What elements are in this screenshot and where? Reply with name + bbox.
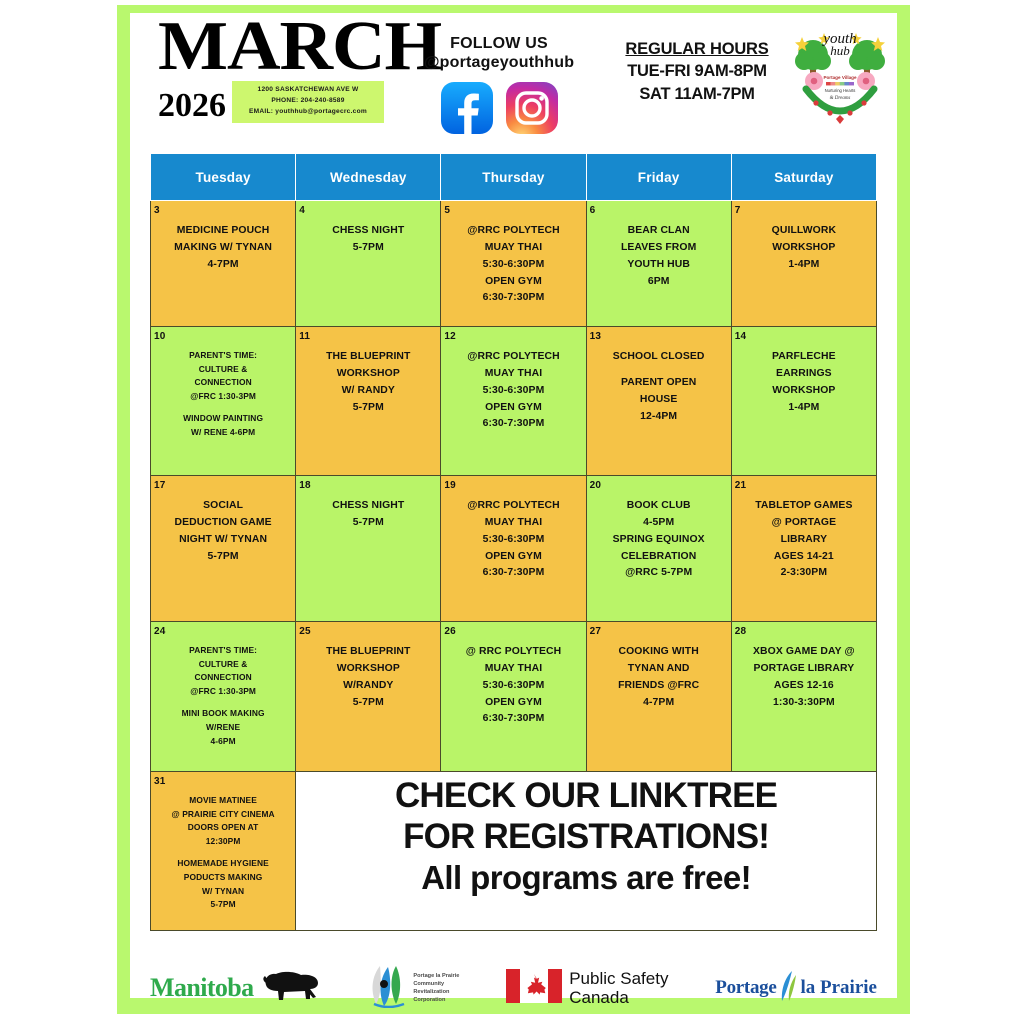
contact-phone: PHONE: 204-240-8589: [238, 96, 378, 107]
day-number: 10: [154, 331, 292, 342]
event-line: @RRC 5-7PM: [590, 565, 728, 582]
event-line: OPEN GYM: [444, 695, 582, 712]
day-event-text: THE BLUEPRINTWORKSHOPW/RANDY5-7PM: [299, 644, 437, 711]
event-line: DEDUCTION GAME: [154, 515, 292, 532]
event-line: QUILLWORK: [735, 223, 873, 240]
calendar-day-cell-24[interactable]: 24PARENT'S TIME:CULTURE &CONNECTION@FRC …: [151, 622, 296, 772]
day-event-text: BEAR CLANLEAVES FROMYOUTH HUB6PM: [590, 223, 728, 290]
event-line: HOMEMADE HYGIENE: [154, 857, 292, 871]
social-icons-row: [406, 82, 592, 134]
event-line: WORKSHOP: [735, 240, 873, 257]
event-line: @FRC 1:30-3PM: [154, 390, 292, 404]
calendar-week-row: 3MEDICINE POUCHMAKING W/ TYNAN4-7PM4CHES…: [151, 201, 877, 327]
day-number: 11: [299, 331, 437, 342]
year-and-contact-row: 2026 1200 SASKATCHEWAN AVE W PHONE: 204-…: [158, 81, 408, 123]
calendar-day-cell-11[interactable]: 11THE BLUEPRINTWORKSHOPW/ RANDY5-7PM: [296, 327, 441, 476]
calendar-table: Tuesday Wednesday Thursday Friday Saturd…: [150, 153, 877, 931]
hours-weekday: TUE-FRI 9AM-8PM: [598, 60, 796, 82]
calendar-week-row: 17SOCIALDEDUCTION GAMENIGHT W/ TYNAN5-7P…: [151, 476, 877, 622]
day-number: 19: [444, 480, 582, 491]
poster-header: MARCH 2026 1200 SASKATCHEWAN AVE W PHONE…: [130, 13, 897, 153]
calendar-day-cell-3[interactable]: 3MEDICINE POUCHMAKING W/ TYNAN4-7PM: [151, 201, 296, 327]
event-line: AGES 14-21: [735, 549, 873, 566]
public-safety-line-1: Public Safety: [569, 969, 668, 988]
poster-sheet: MARCH 2026 1200 SASKATCHEWAN AVE W PHONE…: [130, 13, 897, 998]
linktree-line-3: All programs are free!: [302, 858, 870, 898]
weekday-header-wednesday: Wednesday: [296, 154, 441, 201]
follow-us-block: FOLLOW US @portageyouthhub: [406, 35, 592, 134]
event-line: PARFLECHE: [735, 349, 873, 366]
day-cell-inner: 4CHESS NIGHT5-7PM: [296, 201, 440, 262]
event-line: CONNECTION: [154, 376, 292, 390]
calendar-day-cell-14[interactable]: 14PARFLECHEEARRINGSWORKSHOP1-4PM: [731, 327, 876, 476]
hours-saturday: SAT 11AM-7PM: [598, 83, 796, 105]
event-line: @RRC POLYTECH: [444, 498, 582, 515]
day-event-text: THE BLUEPRINTWORKSHOPW/ RANDY5-7PM: [299, 349, 437, 416]
calendar-body: 3MEDICINE POUCHMAKING W/ TYNAN4-7PM4CHES…: [151, 201, 877, 931]
event-line: CHESS NIGHT: [299, 223, 437, 240]
event-line: W/ RENE 4-6PM: [154, 426, 292, 440]
day-event-text: @RRC POLYTECHMUAY THAI5:30-6:30PMOPEN GY…: [444, 223, 582, 307]
day-event-text: BOOK CLUB4-5PMSPRING EQUINOXCELEBRATION@…: [590, 498, 728, 582]
day-event-text: SOCIALDEDUCTION GAMENIGHT W/ TYNAN5-7PM: [154, 498, 292, 565]
event-line: TYNAN AND: [590, 661, 728, 678]
day-number: 25: [299, 626, 437, 637]
event-line: PORTAGE LIBRARY: [735, 661, 873, 678]
hours-title: REGULAR HOURS: [598, 39, 796, 60]
calendar-week-row: 24PARENT'S TIME:CULTURE &CONNECTION@FRC …: [151, 622, 877, 772]
day-number: 24: [154, 626, 292, 637]
logo-manitoba: Manitoba: [150, 969, 322, 1008]
event-line: 6:30-7:30PM: [444, 565, 582, 582]
event-line: OPEN GYM: [444, 274, 582, 291]
page-title: MARCH: [158, 15, 423, 79]
day-number: 27: [590, 626, 728, 637]
event-line: 12-4PM: [590, 409, 728, 426]
event-line: 5:30-6:30PM: [444, 383, 582, 400]
poster-green-frame: MARCH 2026 1200 SASKATCHEWAN AVE W PHONE…: [117, 5, 910, 1014]
event-line: CULTURE &: [154, 363, 292, 377]
event-line: CONNECTION: [154, 671, 292, 685]
day-event-text: MEDICINE POUCHMAKING W/ TYNAN4-7PM: [154, 223, 292, 274]
linktree-line-1: CHECK OUR LINKTREE: [302, 776, 870, 817]
event-line: WORKSHOP: [299, 661, 437, 678]
day-number: 13: [590, 331, 728, 342]
event-line: 4-5PM: [590, 515, 728, 532]
day-number: 20: [590, 480, 728, 491]
event-line: DOORS OPEN AT: [154, 821, 292, 835]
day-number: 28: [735, 626, 873, 637]
calendar-day-cell-18[interactable]: 18CHESS NIGHT5-7PM: [296, 476, 441, 622]
event-line: SCHOOL CLOSED: [590, 349, 728, 366]
calendar-day-cell-20[interactable]: 20BOOK CLUB4-5PMSPRING EQUINOXCELEBRATIO…: [586, 476, 731, 622]
event-line: 5:30-6:30PM: [444, 257, 582, 274]
event-line: CHESS NIGHT: [299, 498, 437, 515]
logo-portage-crc: Portage la Prairie Community Revitalizat…: [368, 964, 459, 1013]
weekday-header-friday: Friday: [586, 154, 731, 201]
day-number: 12: [444, 331, 582, 342]
day-cell-inner: 17SOCIALDEDUCTION GAMENIGHT W/ TYNAN5-7P…: [151, 476, 295, 570]
day-cell-inner: 6BEAR CLANLEAVES FROMYOUTH HUB6PM: [587, 201, 731, 295]
day-cell-inner: 21TABLETOP GAMES@ PORTAGELIBRARYAGES 14-…: [732, 476, 876, 587]
logo-portage-la-prairie: Portage la Prairie: [715, 969, 877, 1008]
event-line: MUAY THAI: [444, 366, 582, 383]
event-line: MINI BOOK MAKING: [154, 707, 292, 721]
calendar-day-cell-26[interactable]: 26@ RRC POLYTECHMUAY THAI5:30-6:30PMOPEN…: [441, 622, 586, 772]
prairie-grass-icon: [777, 969, 799, 1008]
footer-logos: Manitoba: [150, 957, 877, 1019]
event-spacer: [590, 366, 728, 375]
public-safety-wordmark: Public Safety Canada: [569, 969, 668, 1007]
contact-email: EMAIL: youthhub@portagecrc.com: [238, 107, 378, 118]
event-line: PARENT OPEN: [590, 375, 728, 392]
crc-line-1: Portage la Prairie: [413, 972, 459, 980]
calendar-day-cell-19[interactable]: 19@RRC POLYTECHMUAY THAI5:30-6:30PMOPEN …: [441, 476, 586, 622]
event-line: MUAY THAI: [444, 515, 582, 532]
day-cell-inner: 19@RRC POLYTECHMUAY THAI5:30-6:30PMOPEN …: [441, 476, 585, 587]
event-line: W/RENE: [154, 721, 292, 735]
event-line: 6:30-7:30PM: [444, 711, 582, 728]
event-line: 6:30-7:30PM: [444, 290, 582, 307]
day-event-text: PARENT'S TIME:CULTURE &CONNECTION@FRC 1:…: [154, 644, 292, 748]
event-line: PARENT'S TIME:: [154, 349, 292, 363]
day-cell-inner: 12@RRC POLYTECHMUAY THAI5:30-6:30PMOPEN …: [441, 327, 585, 438]
event-line: W/ TYNAN: [154, 885, 292, 899]
calendar-day-cell-12[interactable]: 12@RRC POLYTECHMUAY THAI5:30-6:30PMOPEN …: [441, 327, 586, 476]
day-cell-inner: 10PARENT'S TIME:CULTURE &CONNECTION@FRC …: [151, 327, 295, 445]
day-cell-inner: 14PARFLECHEEARRINGSWORKSHOP1-4PM: [732, 327, 876, 421]
svg-text:Portage Village: Portage Village: [823, 75, 857, 80]
event-line: MAKING W/ TYNAN: [154, 240, 292, 257]
day-cell-inner: 24PARENT'S TIME:CULTURE &CONNECTION@FRC …: [151, 622, 295, 753]
event-line: PODUCTS MAKING: [154, 871, 292, 885]
event-spacer: [154, 403, 292, 412]
day-cell-inner: 18CHESS NIGHT5-7PM: [296, 476, 440, 537]
calendar-day-cell-4[interactable]: 4CHESS NIGHT5-7PM: [296, 201, 441, 327]
day-event-text: @ RRC POLYTECHMUAY THAI5:30-6:30PMOPEN G…: [444, 644, 582, 728]
linktree-line-2: FOR REGISTRATIONS!: [302, 817, 870, 858]
event-line: FRIENDS @FRC: [590, 678, 728, 695]
event-line: OPEN GYM: [444, 549, 582, 566]
public-safety-line-2: Canada: [569, 988, 668, 1007]
event-line: 6PM: [590, 274, 728, 291]
event-line: THE BLUEPRINT: [299, 349, 437, 366]
svg-text:Nurturing Hearts: Nurturing Hearts: [825, 88, 856, 93]
year-label: 2026: [158, 89, 226, 123]
day-event-text: XBOX GAME DAY @PORTAGE LIBRARYAGES 12-16…: [735, 644, 873, 711]
event-line: 6:30-7:30PM: [444, 416, 582, 433]
event-line: TABLETOP GAMES: [735, 498, 873, 515]
day-cell-inner: 3MEDICINE POUCHMAKING W/ TYNAN4-7PM: [151, 201, 295, 279]
event-line: WORKSHOP: [299, 366, 437, 383]
day-number: 3: [154, 205, 292, 216]
event-line: @RRC POLYTECH: [444, 349, 582, 366]
day-cell-inner: 7QUILLWORKWORKSHOP1-4PM: [732, 201, 876, 279]
event-line: AGES 12-16: [735, 678, 873, 695]
day-cell-inner: 11THE BLUEPRINTWORKSHOPW/ RANDY5-7PM: [296, 327, 440, 421]
weekday-header-thursday: Thursday: [441, 154, 586, 201]
event-line: 1:30-3:30PM: [735, 695, 873, 712]
event-line: @FRC 1:30-3PM: [154, 685, 292, 699]
calendar-header-row: Tuesday Wednesday Thursday Friday Saturd…: [151, 154, 877, 201]
calendar-day-cell-5[interactable]: 5@RRC POLYTECHMUAY THAI5:30-6:30PMOPEN G…: [441, 201, 586, 327]
day-event-text: @RRC POLYTECHMUAY THAI5:30-6:30PMOPEN GY…: [444, 349, 582, 433]
event-line: XBOX GAME DAY @: [735, 644, 873, 661]
event-spacer: [154, 698, 292, 707]
event-line: HOUSE: [590, 392, 728, 409]
event-line: PARENT'S TIME:: [154, 644, 292, 658]
day-event-text: CHESS NIGHT5-7PM: [299, 223, 437, 257]
event-line: 1-4PM: [735, 400, 873, 417]
day-event-text: PARENT'S TIME:CULTURE &CONNECTION@FRC 1:…: [154, 349, 292, 440]
crc-line-4: Corporation: [413, 996, 459, 1004]
crc-line-3: Revitalization: [413, 988, 459, 996]
event-line: WINDOW PAINTING: [154, 412, 292, 426]
calendar-day-cell-27[interactable]: 27COOKING WITHTYNAN ANDFRIENDS @FRC4-7PM: [586, 622, 731, 772]
event-line: W/ RANDY: [299, 383, 437, 400]
event-line: CELEBRATION: [590, 549, 728, 566]
event-line: 1-4PM: [735, 257, 873, 274]
event-spacer: [154, 848, 292, 857]
day-number: 21: [735, 480, 873, 491]
event-line: 4-7PM: [590, 695, 728, 712]
event-line: OPEN GYM: [444, 400, 582, 417]
weekday-header-saturday: Saturday: [731, 154, 876, 201]
crc-swoosh-icon: [368, 964, 410, 1013]
day-event-text: PARFLECHEEARRINGSWORKSHOP1-4PM: [735, 349, 873, 416]
event-line: MEDICINE POUCH: [154, 223, 292, 240]
facebook-icon[interactable]: [441, 82, 493, 134]
event-line: MUAY THAI: [444, 240, 582, 257]
event-line: 5-7PM: [154, 898, 292, 912]
day-number: 14: [735, 331, 873, 342]
event-line: W/RANDY: [299, 678, 437, 695]
day-number: 4: [299, 205, 437, 216]
event-line: @ PRAIRIE CITY CINEMA: [154, 808, 292, 822]
event-line: BEAR CLAN: [590, 223, 728, 240]
calendar-day-cell-31[interactable]: 31MOVIE MATINEE@ PRAIRIE CITY CINEMADOOR…: [151, 772, 296, 931]
day-event-text: QUILLWORKWORKSHOP1-4PM: [735, 223, 873, 274]
day-cell-inner: 25THE BLUEPRINTWORKSHOPW/RANDY5-7PM: [296, 622, 440, 716]
event-line: 5:30-6:30PM: [444, 532, 582, 549]
svg-text:& Dreams: & Dreams: [830, 96, 851, 101]
svg-text:hub: hub: [830, 43, 850, 58]
event-line: 2-3:30PM: [735, 565, 873, 582]
social-handle: @portageyouthhub: [406, 54, 592, 73]
event-line: @ PORTAGE: [735, 515, 873, 532]
regular-hours-block: REGULAR HOURS TUE-FRI 9AM-8PM SAT 11AM-7…: [598, 39, 796, 105]
event-line: @RRC POLYTECH: [444, 223, 582, 240]
event-line: SOCIAL: [154, 498, 292, 515]
event-line: EARRINGS: [735, 366, 873, 383]
event-line: 5:30-6:30PM: [444, 678, 582, 695]
calendar-day-cell-21[interactable]: 21TABLETOP GAMES@ PORTAGELIBRARYAGES 14-…: [731, 476, 876, 622]
calendar-day-cell-28[interactable]: 28XBOX GAME DAY @PORTAGE LIBRARYAGES 12-…: [731, 622, 876, 772]
event-line: NIGHT W/ TYNAN: [154, 532, 292, 549]
event-line: THE BLUEPRINT: [299, 644, 437, 661]
event-line: 5-7PM: [299, 400, 437, 417]
day-number: 7: [735, 205, 873, 216]
canada-flag-icon: [506, 969, 562, 1008]
calendar-day-cell-25[interactable]: 25THE BLUEPRINTWORKSHOPW/RANDY5-7PM: [296, 622, 441, 772]
follow-us-label: FOLLOW US: [406, 35, 592, 54]
event-line: 5-7PM: [299, 240, 437, 257]
day-event-text: MOVIE MATINEE@ PRAIRIE CITY CINEMADOORS …: [154, 794, 292, 912]
weekday-header-tuesday: Tuesday: [151, 154, 296, 201]
event-line: 5-7PM: [154, 549, 292, 566]
event-line: SPRING EQUINOX: [590, 532, 728, 549]
day-event-text: CHESS NIGHT5-7PM: [299, 498, 437, 532]
day-cell-inner: 31MOVIE MATINEE@ PRAIRIE CITY CINEMADOOR…: [151, 772, 295, 917]
event-line: @ RRC POLYTECH: [444, 644, 582, 661]
month-title-block: MARCH 2026 1200 SASKATCHEWAN AVE W PHONE…: [158, 15, 408, 123]
calendar-week-row: 31MOVIE MATINEE@ PRAIRIE CITY CINEMADOOR…: [151, 772, 877, 931]
logo-public-safety-canada: Public Safety Canada: [506, 969, 668, 1008]
calendar-day-cell-13[interactable]: 13SCHOOL CLOSEDPARENT OPENHOUSE12-4PM: [586, 327, 731, 476]
day-number: 18: [299, 480, 437, 491]
calendar-day-cell-7[interactable]: 7QUILLWORKWORKSHOP1-4PM: [731, 201, 876, 327]
day-number: 6: [590, 205, 728, 216]
event-line: BOOK CLUB: [590, 498, 728, 515]
day-cell-inner: 27COOKING WITHTYNAN ANDFRIENDS @FRC4-7PM: [587, 622, 731, 716]
event-line: 5-7PM: [299, 515, 437, 532]
event-line: 5-7PM: [299, 695, 437, 712]
day-cell-inner: 13SCHOOL CLOSEDPARENT OPENHOUSE12-4PM: [587, 327, 731, 430]
youth-hub-crest-icon: youth hub Portage Village N: [790, 21, 890, 129]
event-line: CULTURE &: [154, 658, 292, 672]
event-line: LEAVES FROM: [590, 240, 728, 257]
day-event-text: @RRC POLYTECHMUAY THAI5:30-6:30PMOPEN GY…: [444, 498, 582, 582]
event-line: MOVIE MATINEE: [154, 794, 292, 808]
day-number: 17: [154, 480, 292, 491]
portage-wordmark-part1: Portage: [715, 977, 776, 999]
event-line: WORKSHOP: [735, 383, 873, 400]
event-line: LIBRARY: [735, 532, 873, 549]
day-event-text: TABLETOP GAMES@ PORTAGELIBRARYAGES 14-21…: [735, 498, 873, 582]
day-cell-inner: 20BOOK CLUB4-5PMSPRING EQUINOXCELEBRATIO…: [587, 476, 731, 587]
day-number: 5: [444, 205, 582, 216]
day-number: 26: [444, 626, 582, 637]
day-number: 31: [154, 776, 292, 787]
calendar-day-cell-10[interactable]: 10PARENT'S TIME:CULTURE &CONNECTION@FRC …: [151, 327, 296, 476]
calendar-day-cell-6[interactable]: 6BEAR CLANLEAVES FROMYOUTH HUB6PM: [586, 201, 731, 327]
day-event-text: COOKING WITHTYNAN ANDFRIENDS @FRC4-7PM: [590, 644, 728, 711]
event-line: 4-7PM: [154, 257, 292, 274]
day-cell-inner: 28XBOX GAME DAY @PORTAGE LIBRARYAGES 12-…: [732, 622, 876, 716]
event-line: 12:30PM: [154, 835, 292, 849]
contact-info-box: 1200 SASKATCHEWAN AVE W PHONE: 204-240-8…: [232, 81, 384, 123]
crc-line-2: Community: [413, 980, 459, 988]
instagram-icon[interactable]: [506, 82, 558, 134]
event-line: 4-6PM: [154, 735, 292, 749]
event-line: COOKING WITH: [590, 644, 728, 661]
day-event-text: SCHOOL CLOSEDPARENT OPENHOUSE12-4PM: [590, 349, 728, 425]
bison-icon: [260, 969, 322, 1008]
crc-wordmark: Portage la Prairie Community Revitalizat…: [413, 972, 459, 1004]
manitoba-wordmark: Manitoba: [150, 973, 254, 1003]
contact-address: 1200 SASKATCHEWAN AVE W: [238, 85, 378, 96]
linktree-inner: CHECK OUR LINKTREEFOR REGISTRATIONS!All …: [296, 772, 876, 901]
calendar-week-row: 10PARENT'S TIME:CULTURE &CONNECTION@FRC …: [151, 327, 877, 476]
event-line: MUAY THAI: [444, 661, 582, 678]
day-cell-inner: 5@RRC POLYTECHMUAY THAI5:30-6:30PMOPEN G…: [441, 201, 585, 312]
calendar-day-cell-17[interactable]: 17SOCIALDEDUCTION GAMENIGHT W/ TYNAN5-7P…: [151, 476, 296, 622]
linktree-banner: CHECK OUR LINKTREEFOR REGISTRATIONS!All …: [296, 772, 877, 931]
day-cell-inner: 26@ RRC POLYTECHMUAY THAI5:30-6:30PMOPEN…: [441, 622, 585, 733]
portage-wordmark-part2: la Prairie: [800, 977, 877, 999]
event-line: YOUTH HUB: [590, 257, 728, 274]
